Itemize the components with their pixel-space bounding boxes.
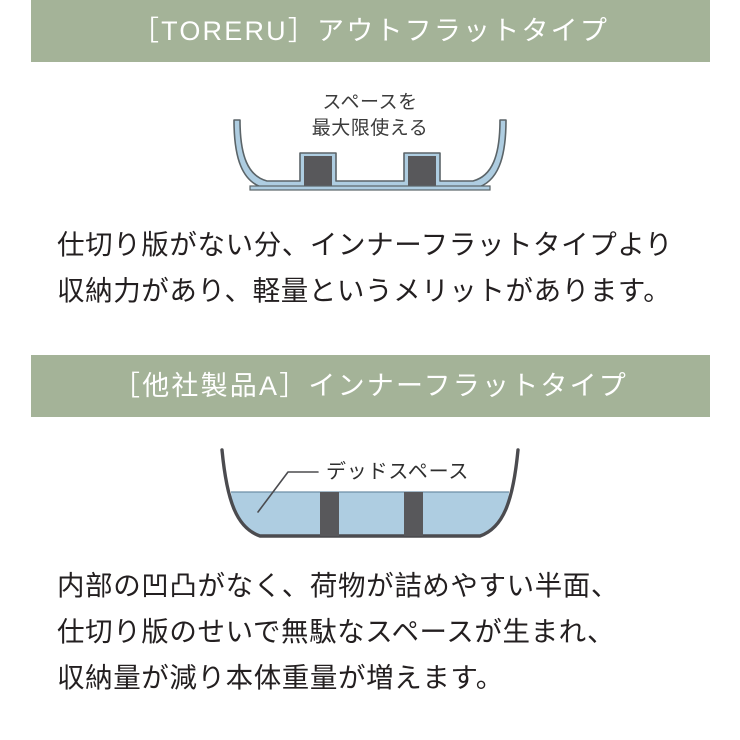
dead-space-fill (231, 492, 509, 536)
figure-caption-line2: 最大限使える (312, 117, 428, 139)
section-banner-label: ［他社製品A］インナーフラットタイプ (113, 373, 628, 400)
figure-out-flat: スペースを 最大限使える (0, 86, 740, 204)
section-banner-toreru: ［TORERU］アウトフラットタイプ (31, 0, 710, 62)
section-banner-label: ［TORERU］アウトフラットタイプ (132, 18, 609, 45)
dead-space-callout-label: デッドスペース (326, 460, 469, 483)
wheel-housing-left (304, 156, 332, 188)
divider-bar-left (320, 492, 339, 536)
section-body-text-competitor: 内部の凹凸がなく、荷物が詰めやすい半面、 仕切り版のせいで無駄なスペースが生まれ… (57, 563, 697, 701)
figure-inner-flat: デッドスペース (0, 440, 740, 550)
figure-caption-line1: スペースを (322, 92, 417, 113)
divider-bar-right (404, 492, 423, 536)
section-banner-competitor: ［他社製品A］インナーフラットタイプ (31, 355, 710, 417)
case-base-line (250, 186, 490, 190)
wheel-housing-right (408, 156, 436, 188)
infographic-page: ［TORERU］アウトフラットタイプ スペースを 最大限使える 仕切り版がない分… (0, 0, 740, 740)
section-body-text-toreru: 仕切り版がない分、インナーフラットタイプより 収納力があり、軽量というメリットが… (57, 222, 697, 314)
